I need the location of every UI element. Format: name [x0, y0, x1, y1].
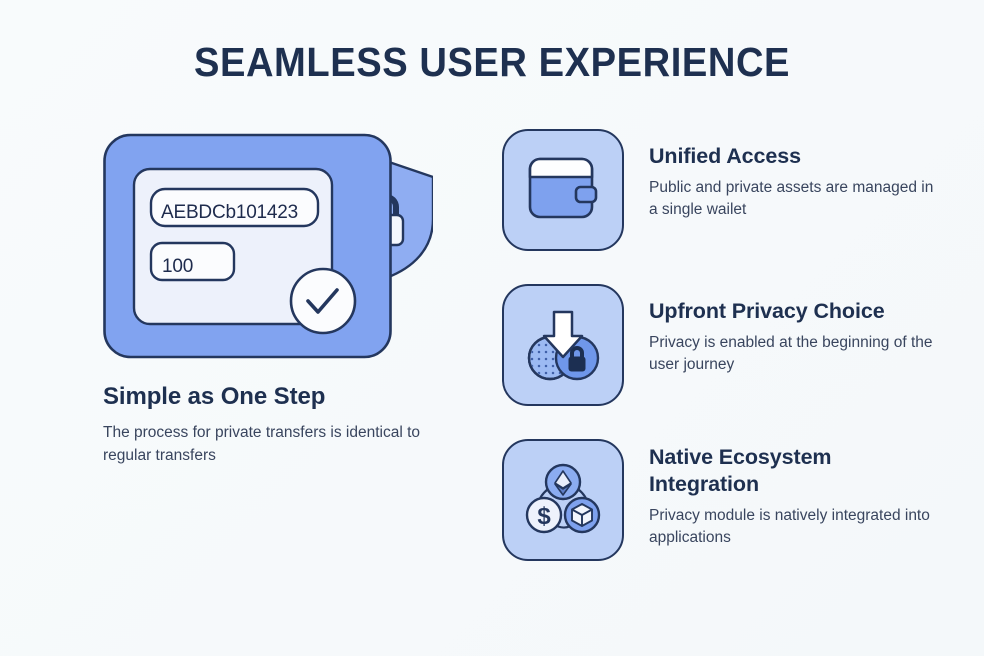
ecosystem-icon-tile: $: [502, 439, 624, 561]
feature-item-unified-access: Unified Access Public and private assets…: [502, 129, 942, 251]
feature-body: Privacy is enabled at the beginning of t…: [649, 332, 942, 376]
address-field-value[interactable]: AEBDCb101423: [161, 201, 311, 225]
check-circle-icon: [291, 269, 355, 333]
feature-heading: Native Ecosystem Integration: [649, 444, 942, 498]
ecosystem-network-icon: $: [524, 463, 602, 537]
hero-caption: Simple as One Step The process for priva…: [103, 382, 433, 467]
feature-body: Public and private assets are managed in…: [649, 177, 942, 221]
hero-caption-heading: Simple as One Step: [103, 382, 433, 412]
feature-heading: Unified Access: [649, 143, 942, 170]
infographic-page: SEAMLESS USER EXPERIENCE: [0, 0, 984, 656]
page-title: SEAMLESS USER EXPERIENCE: [34, 38, 949, 87]
feature-heading: Upfront Privacy Choice: [649, 298, 942, 325]
wallet-icon: [528, 157, 598, 223]
hero-caption-body: The process for private transfers is ide…: [103, 421, 433, 467]
amount-field-value[interactable]: 100: [162, 255, 232, 279]
feature-item-native-ecosystem-integration: $ Native Ecosystem Integration Privacy m…: [502, 439, 942, 561]
feature-list: Unified Access Public and private assets…: [502, 129, 942, 561]
privacy-icon-tile: [502, 284, 624, 406]
feature-item-upfront-privacy-choice: Upfront Privacy Choice Privacy is enable…: [502, 284, 942, 406]
svg-text:$: $: [537, 503, 551, 530]
wallet-icon-tile: [502, 129, 624, 251]
arrow-privacy-split-icon: [523, 308, 603, 382]
transfer-card-illustration: AEBDCb101423 100: [103, 131, 433, 361]
feature-body: Privacy module is natively integrated in…: [649, 505, 942, 549]
